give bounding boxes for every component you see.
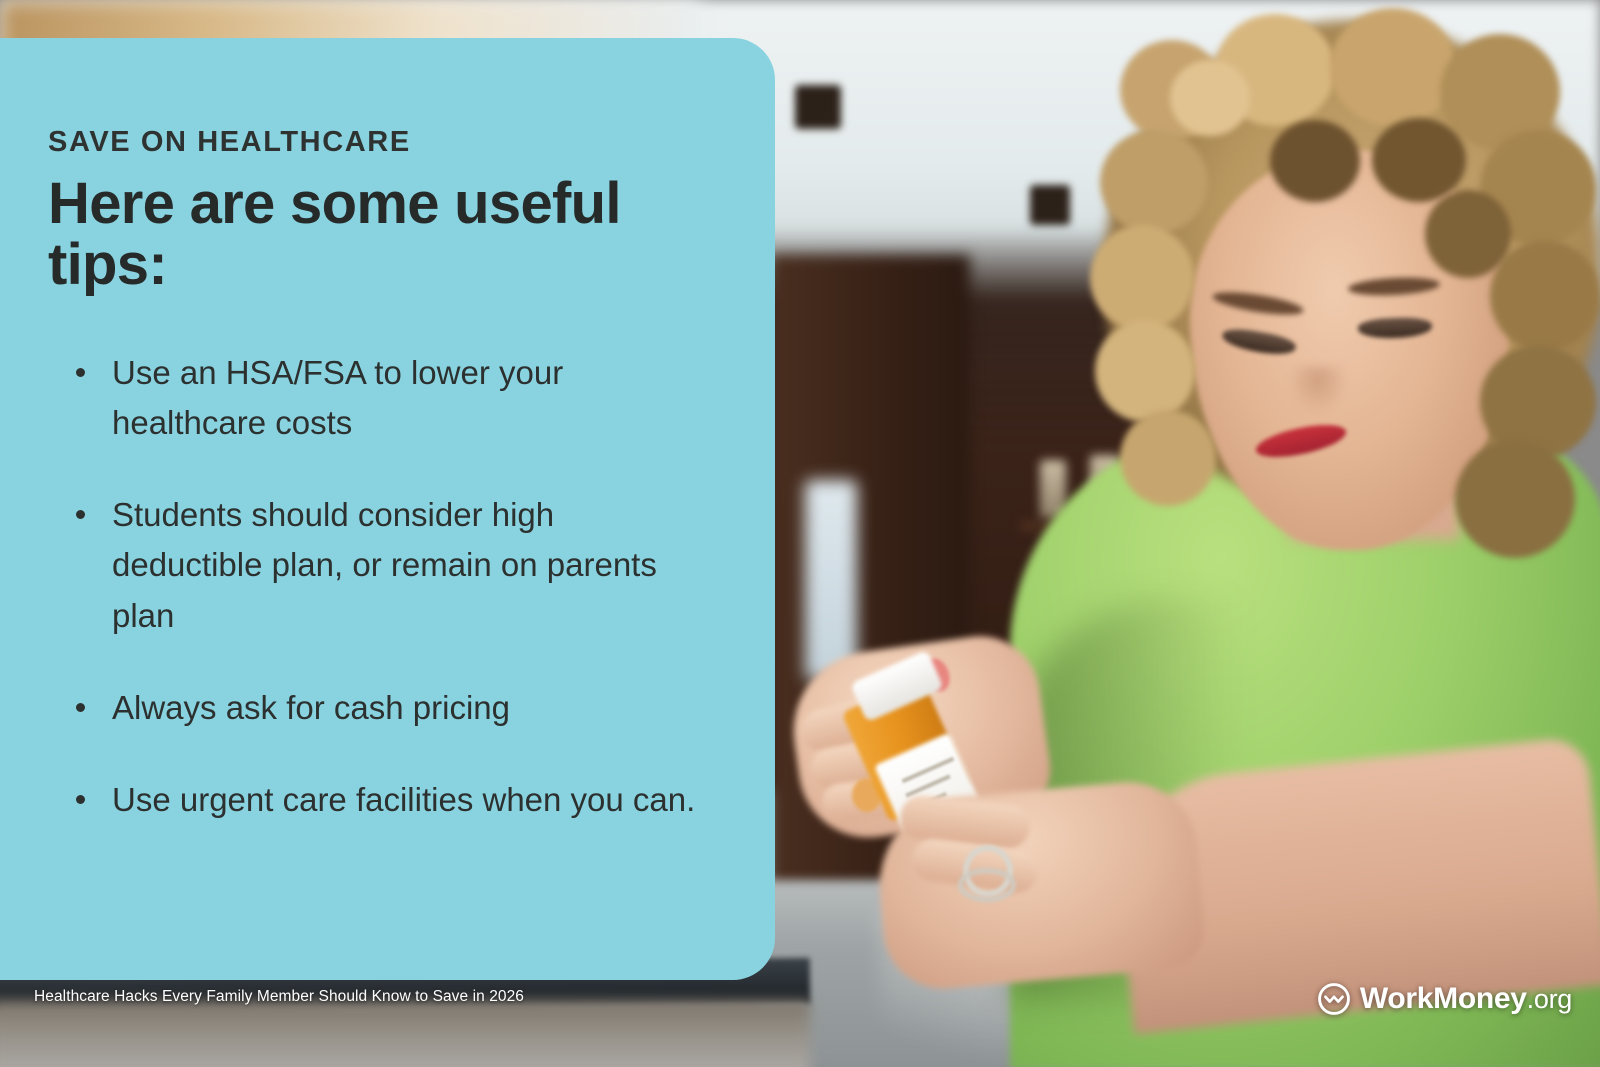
photo-nose [1288, 366, 1348, 414]
photo-table-surface [0, 1000, 810, 1067]
logo-name: WorkMoney [1360, 982, 1527, 1015]
photo-hair-curl [1425, 190, 1511, 278]
photo-hair-curl [1095, 320, 1195, 422]
workmoney-chevron-icon [1317, 982, 1351, 1016]
workmoney-logo[interactable]: WorkMoney.org [1317, 982, 1572, 1016]
slide-canvas: SAVE ON HEALTHCARE Here are some useful … [0, 0, 1600, 1067]
panel-eyebrow: SAVE ON HEALTHCARE [48, 38, 715, 157]
photo-hair-curl [1120, 410, 1216, 506]
photo-hair-curl [1170, 60, 1250, 136]
photo-ring [958, 868, 1016, 902]
list-item: Students should consider high deductible… [70, 490, 712, 640]
page-title: Here are some useful tips: [48, 173, 668, 296]
photo-hair-curl [1490, 240, 1600, 352]
photo-hair-curl [1270, 120, 1360, 202]
photo-hair-curl [1090, 225, 1194, 331]
photo-hair-curl [1455, 440, 1575, 558]
tips-list: Use an HSA/FSA to lower your healthcare … [48, 348, 715, 825]
video-caption: Healthcare Hacks Every Family Member Sho… [34, 988, 524, 1006]
list-item: Use an HSA/FSA to lower your healthcare … [70, 348, 712, 448]
logo-wordmark: WorkMoney.org [1360, 984, 1572, 1014]
list-item: Always ask for cash pricing [70, 683, 712, 733]
photo-hair-curl [1100, 130, 1208, 234]
logo-tld: .org [1527, 984, 1572, 1014]
list-item: Use urgent care facilities when you can. [70, 775, 712, 825]
photo-hair-curl [1330, 8, 1456, 126]
tips-panel: SAVE ON HEALTHCARE Here are some useful … [0, 38, 775, 980]
photo-hair-curl [1372, 118, 1466, 202]
